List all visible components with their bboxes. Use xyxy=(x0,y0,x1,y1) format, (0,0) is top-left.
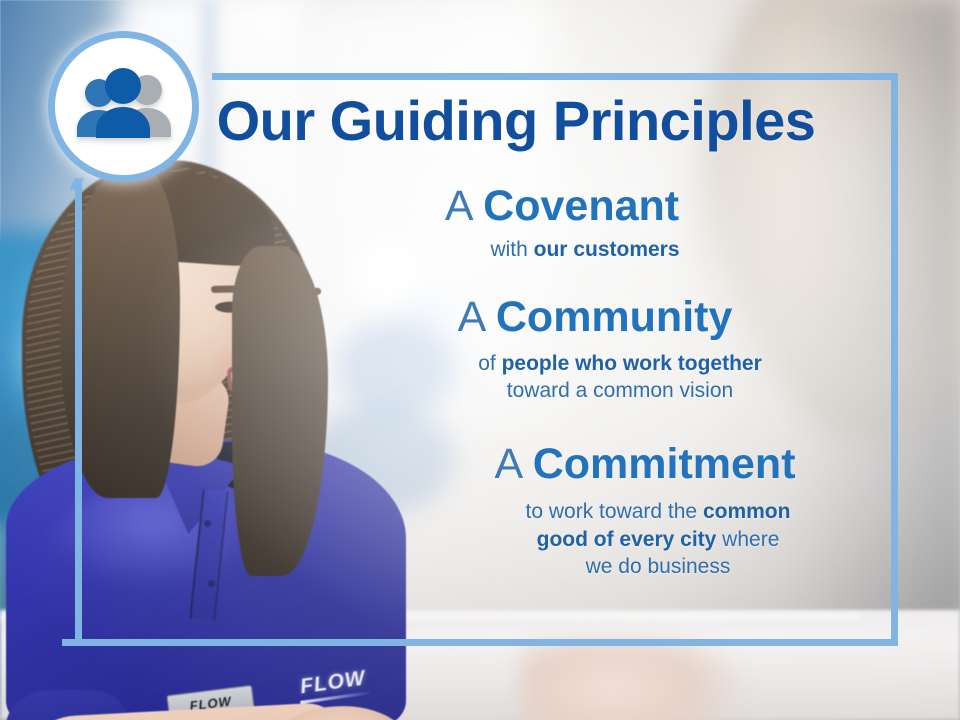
shirt-button xyxy=(204,520,211,527)
principle-heading: A Community xyxy=(295,293,895,341)
promotional-graphic: FLOW AUTOMOTIVE FLOW xyxy=(0,0,960,720)
principle-article: A xyxy=(494,440,520,488)
principle-subtext: of people who work togethertoward a comm… xyxy=(320,350,920,405)
customer-hand xyxy=(520,640,750,720)
principle-article: A xyxy=(458,293,484,341)
principle-heading: A Covenant xyxy=(262,182,862,230)
principle-covenant: A Covenant with our customers xyxy=(300,182,900,263)
principle-commitment: A Commitment to work toward the commongo… xyxy=(300,440,900,580)
principle-heading: A Commitment xyxy=(345,440,945,488)
principle-word: Covenant xyxy=(483,182,679,230)
principle-article: A xyxy=(445,182,471,230)
principle-subtext: with our customers xyxy=(285,236,885,263)
principle-word: Community xyxy=(496,293,733,341)
shirt-button xyxy=(208,580,215,587)
principle-word: Commitment xyxy=(533,440,796,488)
principle-community: A Community of people who work togethert… xyxy=(300,293,900,404)
principles-list: A Covenant with our customers A Communit… xyxy=(300,182,900,586)
page-title: Our Guiding Principles xyxy=(0,92,960,150)
principle-subtext: to work toward the commongood of every c… xyxy=(358,498,958,580)
